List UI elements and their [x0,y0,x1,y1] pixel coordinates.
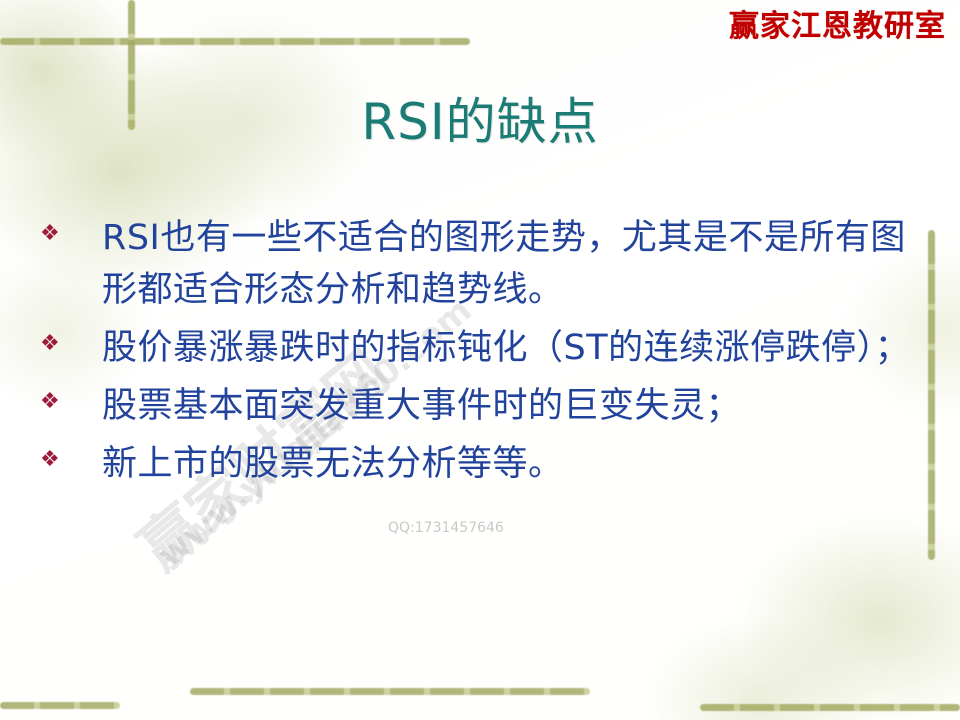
list-item-text: 股价暴涨暴跌时的指标钝化（ST的连续涨停跌停）； [102,322,934,374]
page-title: RSI的缺点 [0,96,960,149]
bullet-list: ❖ RSI也有一些不适合的图形走势，尤其是不是所有图形都适合形态分析和趋势线。 … [34,212,934,496]
watermark-qq: QQ:1731457646 [388,520,504,536]
list-item-text: RSI也有一些不适合的图形走势，尤其是不是所有图形都适合形态分析和趋势线。 [102,212,934,316]
diamond-bullet-icon: ❖ [34,380,102,424]
list-item-text: 新上市的股票无法分析等等。 [102,438,934,490]
footer: 江 赢 恩 家 赢家财富网 www.yjcf360.com 技术支持：赢家江恩教… [0,610,960,720]
list-item: ❖ 股票基本面突发重大事件时的巨变失灵； [34,380,934,432]
bamboo-border-top [0,38,470,45]
page-title-cjk: 的缺点 [446,93,599,151]
list-item: ❖ RSI也有一些不适合的图形走势，尤其是不是所有图形都适合形态分析和趋势线。 [34,212,934,316]
header-brand-title: 赢家江恩教研室 [729,12,946,42]
page-title-latin: RSI [361,93,445,151]
diamond-bullet-icon: ❖ [34,322,102,366]
slide-canvas: 赢家江恩教研室 RSI的缺点 赢家财富网 www.yingjia360.com … [0,0,960,720]
list-item: ❖ 股价暴涨暴跌时的指标钝化（ST的连续涨停跌停）； [34,322,934,374]
diamond-bullet-icon: ❖ [34,212,102,256]
diamond-bullet-icon: ❖ [34,438,102,482]
list-item-text: 股票基本面突发重大事件时的巨变失灵； [102,380,934,432]
list-item: ❖ 新上市的股票无法分析等等。 [34,438,934,490]
